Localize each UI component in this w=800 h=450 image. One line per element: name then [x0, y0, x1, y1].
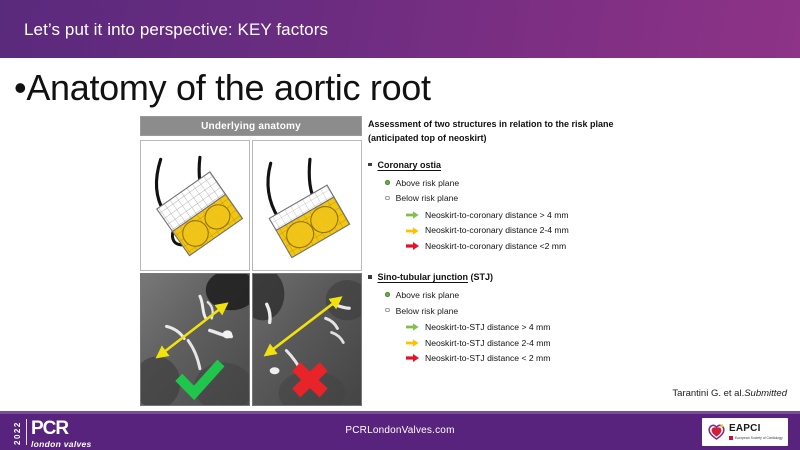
arrow-right-red-icon	[406, 242, 419, 250]
citation-authors: Tarantini G. et al.	[672, 388, 744, 399]
header-banner: Let’s put it into perspective: KEY facto…	[0, 0, 800, 58]
option-label: Above risk plane	[396, 289, 460, 301]
option-above-risk-plane: Above risk plane	[385, 289, 668, 301]
criterion-label: Neoskirt-to-coronary distance <2 mm	[425, 240, 566, 252]
criterion-label: Neoskirt-to-coronary distance > 4 mm	[425, 209, 569, 221]
header-title: Let’s put it into perspective: KEY facto…	[24, 20, 328, 40]
heart-shield-icon	[708, 424, 725, 440]
option-label: Below risk plane	[396, 305, 459, 317]
section-heading: Coronary ostia	[368, 159, 668, 172]
assessment-panel: Assessment of two structures in relation…	[368, 118, 668, 368]
criterion-label: Neoskirt-to-STJ distance > 4 mm	[425, 321, 550, 333]
arrow-right-amber-icon	[406, 227, 419, 235]
criterion-label: Neoskirt-to-coronary distance 2-4 mm	[425, 224, 569, 236]
citation: Tarantini G. et al.Submitted	[672, 388, 787, 399]
criterion-row: Neoskirt-to-coronary distance > 4 mm	[406, 209, 668, 221]
option-label: Above risk plane	[396, 177, 460, 189]
section-title-suffix: (STJ)	[468, 272, 493, 282]
eapci-subtitle: European Society of Cardiology	[735, 437, 783, 440]
criterion-row: Neoskirt-to-coronary distance 2-4 mm	[406, 224, 668, 236]
criterion-row: Neoskirt-to-STJ distance > 4 mm	[406, 321, 668, 333]
esc-row: European Society of Cardiology	[729, 435, 783, 440]
eapci-name: EAPCI	[729, 424, 783, 434]
eapci-logo: EAPCI European Society of Cardiology	[702, 418, 788, 446]
aortic-root-diagram-red-icon	[253, 141, 361, 270]
filled-circle-icon	[385, 292, 390, 297]
arrow-right-green-icon	[406, 323, 419, 331]
citation-status: Submitted	[744, 388, 787, 399]
ct-scan-unfavourable	[252, 273, 362, 406]
anatomy-illustration-unfavourable	[252, 140, 362, 271]
heading-text: Anatomy of the aortic root	[26, 67, 430, 108]
eapci-text-block: EAPCI European Society of Cardiology	[729, 424, 783, 441]
square-bullet-icon	[368, 163, 372, 167]
hollow-circle-icon	[385, 308, 390, 313]
footer-url[interactable]: PCRLondonValves.com	[0, 425, 800, 436]
option-label: Below risk plane	[396, 192, 459, 204]
hollow-circle-icon	[385, 196, 390, 201]
criterion-label: Neoskirt-to-STJ distance < 2 mm	[425, 352, 550, 364]
criterion-row: Neoskirt-to-STJ distance 2-4 mm	[406, 337, 668, 349]
anatomy-illustration-favourable	[140, 140, 250, 271]
option-below-risk-plane: Below risk plane	[385, 305, 668, 317]
page-title: •Anatomy of the aortic root	[14, 68, 431, 108]
ct-scan-green-check-icon	[141, 274, 249, 405]
distance-criteria-list: Neoskirt-to-coronary distance > 4 mm Neo…	[406, 209, 668, 252]
arrow-right-red-icon	[406, 354, 419, 362]
esc-square-icon	[729, 436, 733, 440]
option-above-risk-plane: Above risk plane	[385, 177, 668, 189]
assessment-section-coronary-ostia: Coronary ostia Above risk plane Below ri…	[368, 159, 668, 252]
aortic-root-diagram-green-icon	[141, 141, 249, 270]
section-title: Coronary ostia	[378, 160, 442, 170]
criterion-label: Neoskirt-to-STJ distance 2-4 mm	[425, 337, 551, 349]
filled-circle-icon	[385, 180, 390, 185]
square-bullet-icon	[368, 275, 372, 279]
figure-header: Underlying anatomy	[140, 116, 362, 136]
criterion-row: Neoskirt-to-coronary distance <2 mm	[406, 240, 668, 252]
slide: Let’s put it into perspective: KEY facto…	[0, 0, 800, 450]
ct-scan-favourable	[140, 273, 250, 406]
ct-scan-red-cross-icon	[253, 274, 361, 405]
section-title: Sino-tubular junction	[378, 272, 469, 282]
section-heading: Sino-tubular junction (STJ)	[368, 271, 668, 284]
logo-sub-text: london valves	[31, 440, 92, 449]
assessment-section-sino-tubular-junction: Sino-tubular junction (STJ) Above risk p…	[368, 271, 668, 364]
assessment-lead: Assessment of two structures in relation…	[368, 118, 618, 146]
figure-panel-grid	[140, 140, 362, 404]
anatomy-figure: Underlying anatomy	[140, 116, 362, 404]
distance-criteria-list: Neoskirt-to-STJ distance > 4 mm Neoskirt…	[406, 321, 668, 364]
criterion-row: Neoskirt-to-STJ distance < 2 mm	[406, 352, 668, 364]
arrow-right-amber-icon	[406, 339, 419, 347]
heading-bullet-icon: •	[14, 67, 26, 108]
option-below-risk-plane: Below risk plane	[385, 192, 668, 204]
arrow-right-green-icon	[406, 211, 419, 219]
